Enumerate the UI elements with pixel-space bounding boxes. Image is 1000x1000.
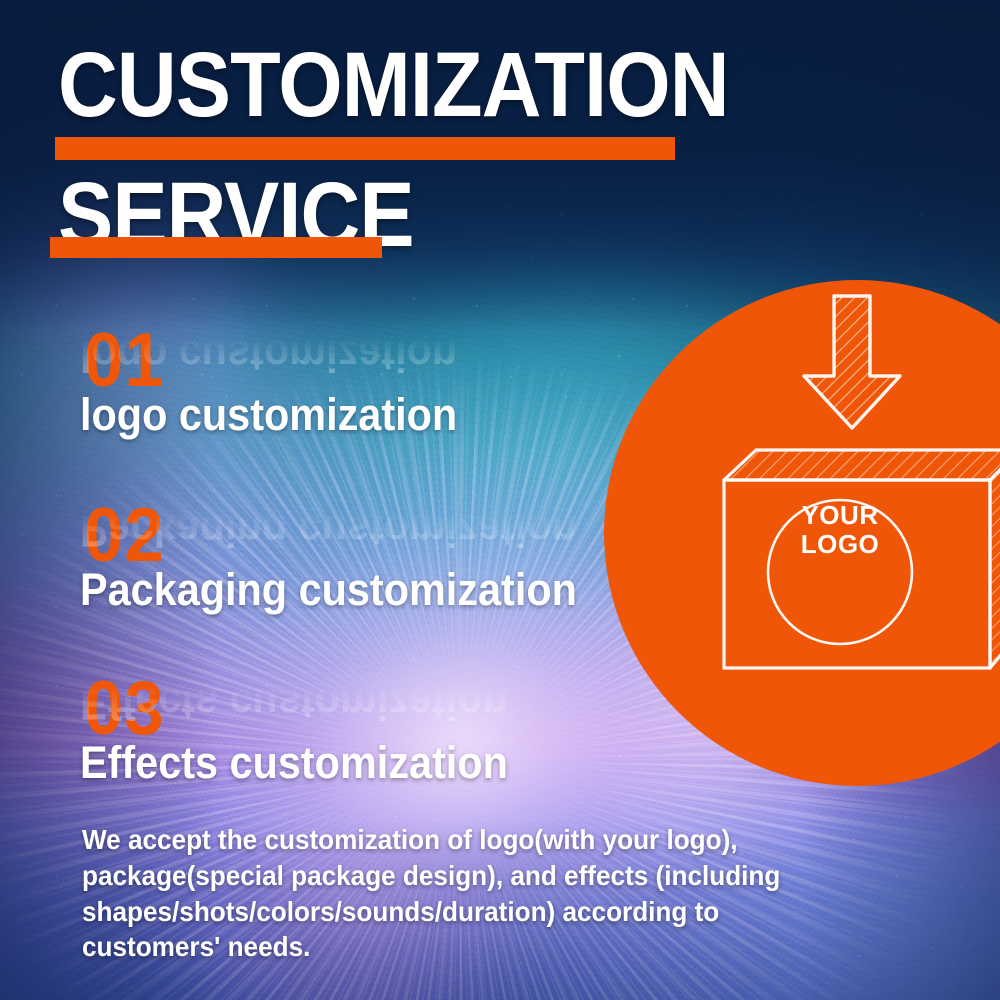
poster-canvas: CUSTOMIZATION SERVICE 01 logo customizat… (0, 0, 1000, 1000)
list-item: 02 Packaging customization Packaging cus… (0, 505, 640, 612)
box-top-face (724, 450, 1000, 480)
page-title-line-1: CUSTOMIZATION (58, 44, 688, 127)
list-item: 01 logo customization logo customization (0, 330, 640, 437)
poster-content: CUSTOMIZATION SERVICE 01 logo customizat… (0, 0, 1000, 1000)
list-item-label: Effects customization (80, 740, 595, 785)
body-paragraph: We accept the customization of logo(with… (82, 822, 804, 965)
title-underline-secondary (50, 237, 382, 258)
logo-placeholder-line-2: LOGO (785, 530, 895, 559)
customization-illustration: YOUR LOGO (604, 280, 1000, 786)
list-item: 03 Effects customization Effects customi… (0, 678, 640, 785)
list-item-number: 02 (84, 505, 601, 567)
list-item-number: 01 (84, 330, 601, 392)
list-item-number: 03 (84, 678, 601, 740)
down-arrow-icon (804, 296, 900, 428)
logo-placeholder-line-1: YOUR (785, 501, 895, 530)
list-item-label: Packaging customization (80, 567, 595, 612)
list-item-label: logo customization (80, 392, 595, 437)
logo-placeholder-text: YOUR LOGO (785, 501, 895, 559)
title-underline-primary (55, 137, 675, 160)
